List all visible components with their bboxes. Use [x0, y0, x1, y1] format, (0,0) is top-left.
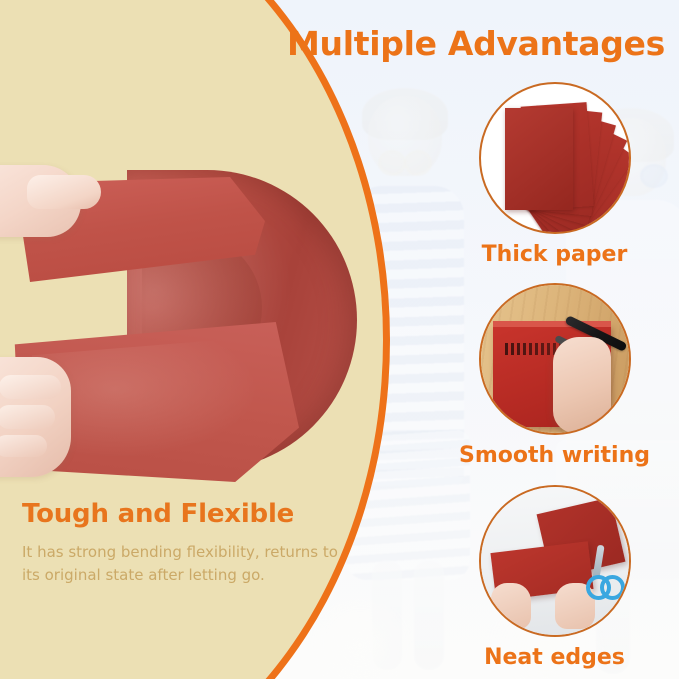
feature-label-neat-edges: Neat edges [430, 645, 679, 670]
feature-list: Thick paper Smooth writing [430, 82, 679, 679]
feature-item-neat-edges: Neat edges [430, 485, 679, 670]
feature-thumbnail-smooth-writing [479, 283, 631, 435]
feature-thumbnail-neat-edges [479, 485, 631, 637]
feature-thumbnail-thick-paper [479, 82, 631, 234]
hero-finger-lower-2 [0, 405, 55, 429]
feature-label-thick-paper: Thick paper [430, 242, 679, 267]
feature-item-smooth-writing: Smooth writing [430, 283, 679, 468]
writing-hand [553, 337, 611, 433]
hero-finger-lower-1 [0, 375, 61, 399]
product-feature-poster: Multiple Advantages Tough and Flexible I… [0, 0, 679, 679]
left-panel-heading: Tough and Flexible [22, 500, 352, 529]
feature-label-smooth-writing: Smooth writing [430, 443, 679, 468]
feature-item-thick-paper: Thick paper [430, 82, 679, 267]
cutting-hand-left [491, 583, 531, 629]
scissors-handle-right [600, 575, 625, 600]
paper-front-sheet [505, 108, 573, 210]
hero-finger-upper [27, 175, 101, 209]
page-title: Multiple Advantages [278, 24, 674, 63]
left-panel-description: It has strong bending flexibility, retur… [22, 541, 352, 588]
hero-finger-lower-3 [0, 435, 47, 457]
left-panel-copy: Tough and Flexible It has strong bending… [22, 500, 352, 587]
stacked-paper-illustration [481, 84, 629, 232]
